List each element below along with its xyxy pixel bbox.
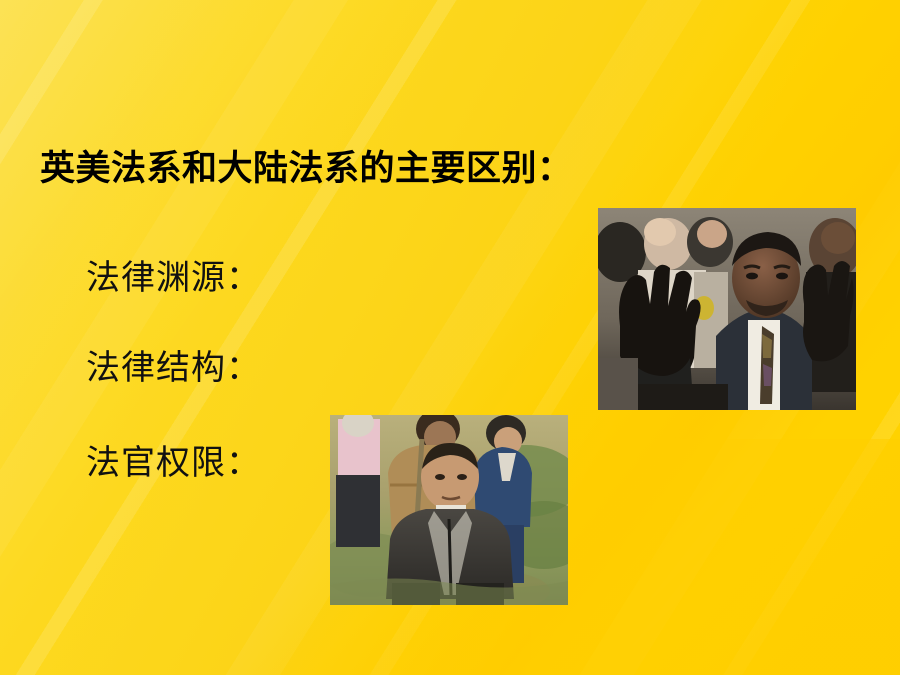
- field-kneeling-photo: [330, 415, 568, 605]
- slide-title: 英美法系和大陆法系的主要区别：: [40, 152, 573, 187]
- bullet-item-law-source: 法律渊源：: [86, 261, 261, 295]
- background-bottom-right-corner: [531, 439, 900, 675]
- courtroom-glove-photo-graphic: [598, 208, 856, 410]
- courtroom-glove-photo: [598, 208, 856, 410]
- presentation-slide: 英美法系和大陆法系的主要区别： 法律渊源： 法律结构： 法官权限：: [0, 0, 900, 675]
- bullet-item-law-structure: 法律结构：: [86, 351, 261, 385]
- field-kneeling-photo-graphic: [330, 415, 568, 605]
- bullet-item-judge-authority: 法官权限：: [86, 446, 261, 480]
